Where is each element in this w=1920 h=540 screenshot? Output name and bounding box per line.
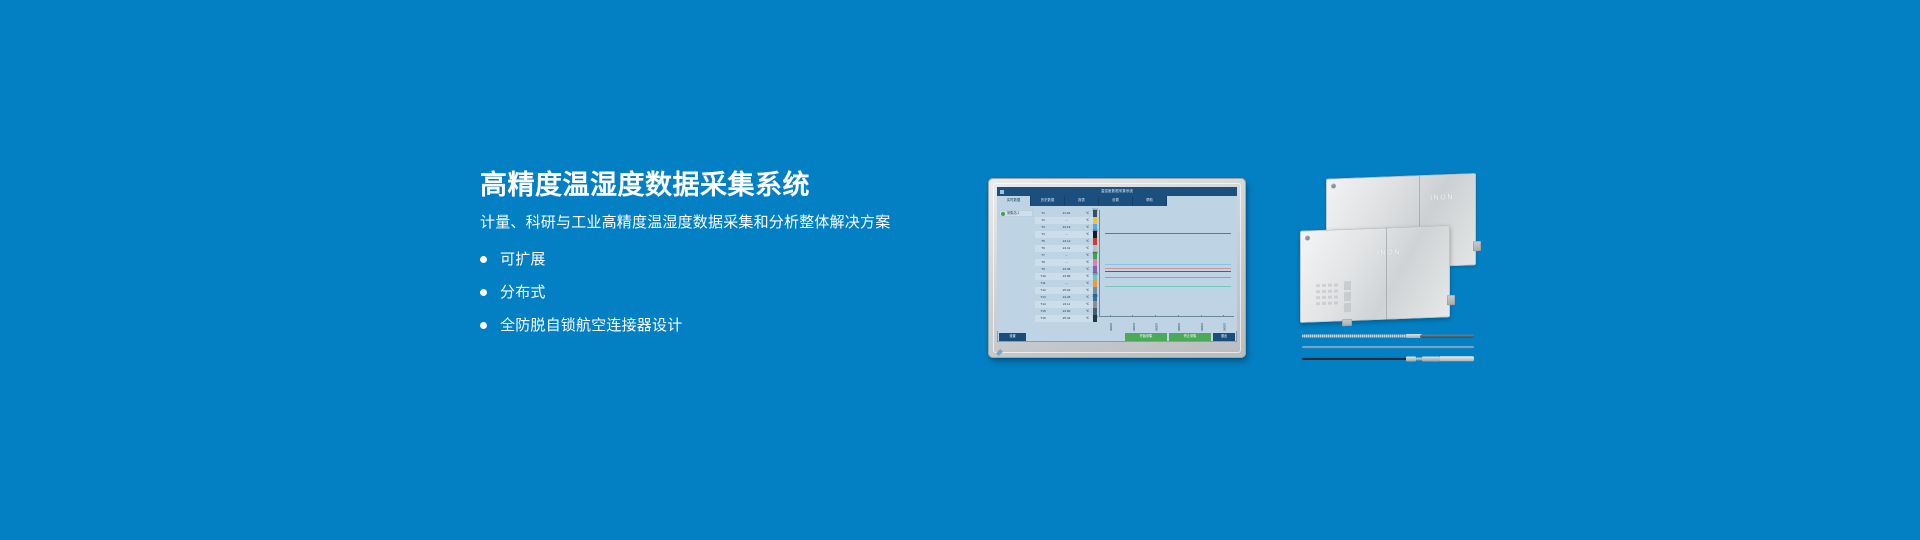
cell-channel: T3	[1035, 226, 1051, 229]
button-label: 开始采集	[1140, 335, 1153, 338]
exit-button[interactable]: 退出	[1213, 333, 1235, 341]
x-axis-tick-label: 10:20:00	[1154, 323, 1157, 331]
cell-channel: T14	[1035, 303, 1051, 306]
y-axis-tick-label: 22.5	[1092, 316, 1098, 319]
table-row[interactable]: T624.41℃	[1035, 245, 1093, 252]
tab-label: 报表	[1078, 199, 1085, 202]
cell-value: --	[1051, 233, 1082, 236]
x-axis-tick-label: 10:30:00	[1177, 323, 1180, 331]
tab-label: 实时数据	[1007, 199, 1021, 202]
tab-history[interactable]: 历史数据	[1031, 196, 1065, 206]
bullet-dot-icon	[480, 322, 487, 329]
stop-acquisition-button[interactable]: 停止采集	[1169, 333, 1211, 341]
enclosure-embossed-pattern	[1316, 280, 1364, 316]
table-row[interactable]: T8--℃	[1035, 259, 1093, 266]
chart-y-axis: 25.024.524.023.523.022.5	[1088, 210, 1099, 317]
trend-chart: 25.024.524.023.523.022.5 10:00:0010:10:0…	[1099, 210, 1234, 331]
brand-logo: INON	[1377, 249, 1401, 257]
app-logo-icon	[1000, 190, 1004, 194]
chart-series-line	[1105, 271, 1231, 272]
table-row[interactable]: T11--℃	[1035, 280, 1093, 287]
cable-gland	[1342, 319, 1352, 326]
tab-bar-filler	[1167, 196, 1237, 206]
table-row[interactable]: T524.12℃	[1035, 238, 1093, 245]
channel-readings-table: T121.81℃T2--℃T324.19℃T4--℃T524.12℃T624.4…	[1035, 206, 1093, 331]
cell-value: 24.28	[1051, 296, 1082, 299]
enclosure-seam	[1386, 228, 1387, 320]
enclosure-front-unit: INON	[1300, 225, 1450, 323]
cell-value: 24.38	[1051, 268, 1082, 271]
cell-value: --	[1051, 261, 1082, 264]
cell-value: --	[1051, 282, 1082, 285]
cell-value: 24.90	[1051, 310, 1082, 313]
y-axis-tick-label: 23.0	[1092, 294, 1098, 297]
list-item: 全防脱自锁航空连接器设计	[480, 318, 960, 333]
app-footer-toolbar: 设置 开始采集 停止采集 退出	[997, 331, 1237, 342]
cell-value: 24.11	[1051, 303, 1082, 306]
cell-value: --	[1051, 219, 1082, 222]
table-row[interactable]: T1024.86℃	[1035, 273, 1093, 280]
tab-report[interactable]: 报表	[1065, 196, 1099, 206]
table-row[interactable]: T1424.11℃	[1035, 301, 1093, 308]
cell-channel: T13	[1035, 296, 1051, 299]
feature-label: 可扩展	[500, 252, 546, 267]
app-sidebar: 采集站-1	[997, 206, 1035, 331]
probe-braided-cable	[1302, 335, 1410, 338]
button-label: 退出	[1221, 335, 1227, 338]
cell-channel: T2	[1035, 219, 1051, 222]
enclosure-screw-icon	[1305, 235, 1310, 240]
cable-gland	[1473, 241, 1481, 251]
table-row[interactable]: T121.81℃	[1035, 210, 1093, 217]
cell-channel: T7	[1035, 254, 1051, 257]
chart-plot-area	[1099, 210, 1234, 317]
sidebar-item-label: 采集站-1	[1007, 212, 1019, 215]
chart-series-line	[1105, 277, 1231, 278]
x-axis-tick-label: 10:40:00	[1199, 323, 1202, 331]
x-axis-tick-mark	[1178, 315, 1179, 317]
tab-settings[interactable]: 设置	[1099, 196, 1133, 206]
x-axis-tick-label: 10:10:00	[1131, 323, 1134, 331]
cell-channel: T5	[1035, 240, 1051, 243]
settings-button[interactable]: 设置	[999, 333, 1026, 341]
y-axis-tick-label: 24.0	[1092, 251, 1098, 254]
x-axis-tick-label: 10:50:00	[1222, 323, 1225, 331]
cell-value: 24.41	[1051, 247, 1082, 250]
x-axis-tick-mark	[1223, 315, 1224, 317]
chart-series-line	[1105, 264, 1231, 265]
tab-label: 历史数据	[1041, 199, 1055, 202]
probe-thin-blue-cable	[1302, 346, 1474, 348]
chart-series-line	[1105, 286, 1231, 287]
cell-channel: T1	[1035, 212, 1051, 215]
chart-series-line	[1105, 268, 1231, 269]
y-axis-tick-label: 24.5	[1092, 230, 1098, 233]
table-row[interactable]: T4--℃	[1035, 231, 1093, 238]
cable-gland	[1447, 295, 1455, 305]
cell-channel: T8	[1035, 261, 1051, 264]
panel-pc-product-image: 温湿度数据采集系统 实时数据 历史数据 报表 设置 帮助 采集站-1	[988, 178, 1246, 358]
start-acquisition-button[interactable]: 开始采集	[1125, 333, 1167, 341]
enclosure-screw-icon	[1331, 183, 1336, 188]
x-axis-tick-mark	[1110, 315, 1111, 317]
probe-sensor-head	[1440, 356, 1474, 362]
table-row[interactable]: T2--℃	[1035, 217, 1093, 224]
x-axis-tick-mark	[1155, 315, 1156, 317]
table-row[interactable]: T7--℃	[1035, 252, 1093, 259]
feature-list: 可扩展 分布式 全防脱自锁航空连接器设计	[480, 252, 960, 333]
banner-copy-block: 高精度温湿度数据采集系统 计量、科研与工业高精度温湿度数据采集和分析整体解决方案…	[480, 172, 960, 333]
app-tab-bar: 实时数据 历史数据 报表 设置 帮助	[997, 196, 1237, 206]
cell-channel: T11	[1035, 282, 1051, 285]
bullet-dot-icon	[480, 289, 487, 296]
chart-series-line	[1105, 233, 1231, 234]
table-row[interactable]: T1225.02℃	[1035, 287, 1093, 294]
cell-channel: T9	[1035, 268, 1051, 271]
brand-logo: INON	[1430, 194, 1454, 202]
cell-value: 25.02	[1051, 289, 1082, 292]
cell-channel: T16	[1035, 317, 1051, 320]
list-item: 分布式	[480, 285, 960, 300]
probe-black-cable	[1302, 357, 1410, 360]
y-axis-tick-label: 25.0	[1092, 209, 1098, 212]
table-row[interactable]: T924.38℃	[1035, 266, 1093, 273]
product-banner: 高精度温湿度数据采集系统 计量、科研与工业高精度温湿度数据采集和分析整体解决方案…	[0, 0, 1920, 540]
table-row[interactable]: T324.19℃	[1035, 224, 1093, 231]
button-label: 停止采集	[1184, 335, 1197, 338]
bullet-dot-icon	[480, 256, 487, 263]
cell-value: --	[1051, 254, 1082, 257]
tab-label: 帮助	[1146, 199, 1153, 202]
x-axis-tick-mark	[1201, 315, 1202, 317]
status-online-icon	[1001, 212, 1005, 216]
probe-braided-stainless	[1302, 334, 1474, 338]
page-subtitle: 计量、科研与工业高精度温湿度数据采集和分析整体解决方案	[480, 215, 960, 230]
app-content-area: 采集站-1 T121.81℃T2--℃T324.19℃T4--℃T524.12℃…	[997, 206, 1237, 331]
x-axis-tick-label: 10:00:00	[1109, 323, 1112, 331]
cell-unit: ℃	[1082, 317, 1093, 320]
connector-body	[1422, 356, 1440, 361]
tab-help[interactable]: 帮助	[1133, 196, 1167, 206]
cell-value: 21.81	[1051, 212, 1082, 215]
probe-cable	[1302, 346, 1474, 348]
cell-channel: T6	[1035, 247, 1051, 250]
aviation-connector-icon	[1406, 356, 1416, 361]
app-window-title: 温湿度数据采集系统	[1101, 190, 1133, 193]
cell-value: 25.34	[1051, 317, 1082, 320]
tab-label: 设置	[1112, 199, 1119, 202]
cell-channel: T15	[1035, 310, 1051, 313]
cell-channel: T10	[1035, 275, 1051, 278]
tab-realtime[interactable]: 实时数据	[997, 196, 1031, 206]
probe-black-cable-aviation	[1302, 356, 1474, 361]
sidebar-item-station[interactable]: 采集站-1	[999, 210, 1033, 217]
page-title: 高精度温湿度数据采集系统	[480, 172, 960, 199]
cell-value: 24.12	[1051, 240, 1082, 243]
panel-pc-bezel: 温湿度数据采集系统 实时数据 历史数据 报表 设置 帮助 采集站-1	[988, 178, 1246, 358]
feature-label: 全防脱自锁航空连接器设计	[500, 318, 682, 333]
cell-channel: T12	[1035, 289, 1051, 292]
cell-value: 24.19	[1051, 226, 1082, 229]
table-row[interactable]: T1524.90℃	[1035, 308, 1093, 315]
table-row[interactable]: T1625.34℃	[1035, 315, 1093, 322]
x-axis-tick-mark	[1132, 315, 1133, 317]
button-label: 设置	[1009, 335, 1015, 338]
hardware-product-image: INON INON	[1300, 176, 1482, 362]
probe-stem-tip	[1420, 335, 1474, 338]
cell-channel: T4	[1035, 233, 1051, 236]
app-titlebar: 温湿度数据采集系统	[997, 187, 1237, 196]
table-row[interactable]: T1324.28℃	[1035, 294, 1093, 301]
cell-value: 24.86	[1051, 275, 1082, 278]
y-axis-tick-label: 23.5	[1092, 273, 1098, 276]
panel-pc-screen: 温湿度数据采集系统 实时数据 历史数据 报表 设置 帮助 采集站-1	[997, 187, 1237, 342]
feature-label: 分布式	[500, 285, 546, 300]
list-item: 可扩展	[480, 252, 960, 267]
